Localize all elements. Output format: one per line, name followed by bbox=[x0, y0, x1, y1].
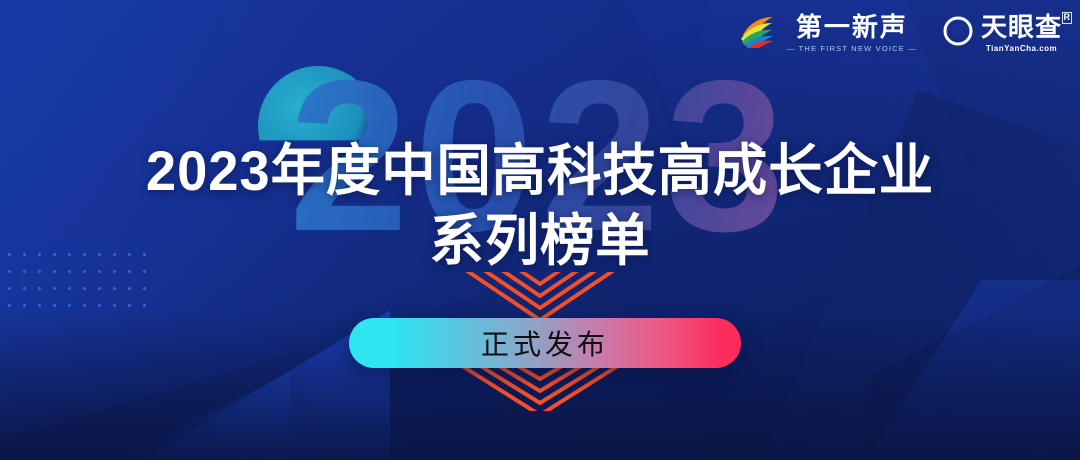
release-button[interactable]: 正式发布 bbox=[349, 318, 741, 368]
logo-tianyancha[interactable]: 天眼查 R TianYanCha.com bbox=[939, 14, 1062, 53]
promo-banner: 2023 2023年度中国高科技高成长企业 系列榜单 bbox=[0, 0, 1080, 460]
headline-line-2: 系列榜单 bbox=[16, 206, 1064, 276]
logo-tianyancha-text: 天眼查 R TianYanCha.com bbox=[981, 14, 1062, 52]
logo-tianyancha-en: TianYanCha.com bbox=[986, 44, 1057, 53]
camera-aperture-icon bbox=[939, 14, 973, 53]
logo-bar: 第一新声 — THE FIRST NEW VOICE — 天眼查 R bbox=[739, 14, 1062, 53]
headline-line-1: 2023年度中国高科技高成长企业 bbox=[16, 136, 1064, 206]
logo-tianyancha-cn-text: 天眼查 bbox=[981, 12, 1062, 42]
page-title: 2023年度中国高科技高成长企业 系列榜单 bbox=[16, 136, 1064, 276]
spiral-ribbon-icon bbox=[739, 14, 779, 53]
chevron-down-decoration bbox=[0, 363, 1080, 411]
registered-mark: R bbox=[1062, 12, 1073, 23]
release-button-label: 正式发布 bbox=[481, 323, 609, 363]
logo-diyixinsheng-cn: 第一新声 bbox=[796, 14, 908, 41]
logo-diyixinsheng[interactable]: 第一新声 — THE FIRST NEW VOICE — bbox=[739, 14, 917, 53]
logo-diyixinsheng-en: — THE FIRST NEW VOICE — bbox=[787, 44, 917, 53]
logo-diyixinsheng-text: 第一新声 — THE FIRST NEW VOICE — bbox=[787, 14, 917, 52]
logo-tianyancha-cn: 天眼查 R bbox=[981, 14, 1062, 41]
chevron-up-decoration bbox=[0, 272, 1080, 320]
